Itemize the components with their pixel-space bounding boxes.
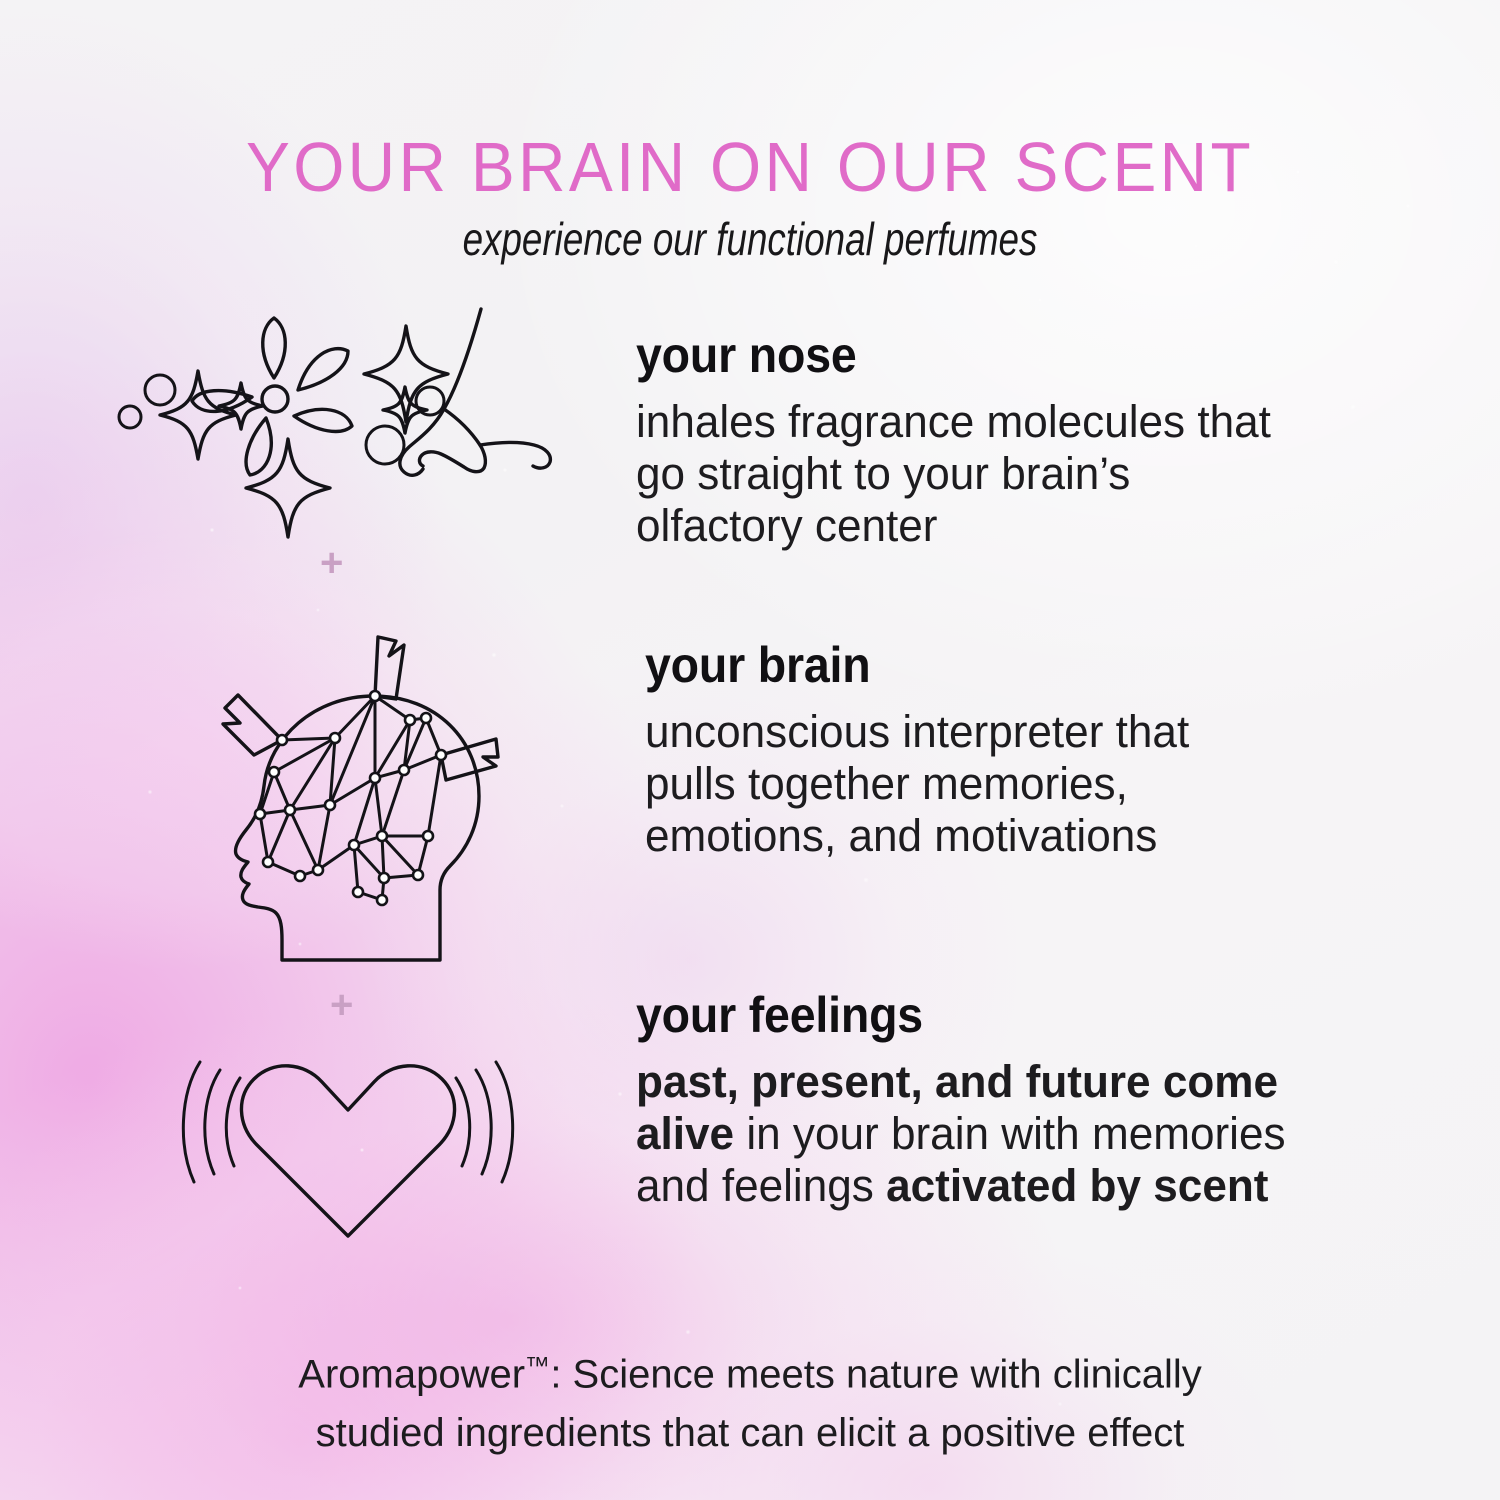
- page-subtitle: experience our functional perfumes: [150, 216, 1350, 262]
- body-line: alive in your brain with memories: [636, 1108, 1286, 1160]
- body-line: and feelings activated by scent: [636, 1160, 1286, 1212]
- infographic-poster: YOUR BRAIN ON OUR SCENT experience our f…: [0, 0, 1500, 1500]
- footer-line-2: studied ingredients that can elicit a po…: [0, 1404, 1500, 1462]
- body-your-nose: inhales fragrance molecules that go stra…: [636, 396, 1271, 552]
- heading-your-nose: your nose: [636, 330, 1239, 380]
- vibrating-heart-icon: [188, 1040, 508, 1250]
- trademark-icon: ™: [525, 1353, 550, 1380]
- body-emphasis: alive: [636, 1108, 734, 1159]
- body-emphasis: past, present, and future come: [636, 1056, 1278, 1107]
- footer-note: Aromapower™: Science meets nature with c…: [0, 1338, 1500, 1462]
- section-text-your-brain: your brain unconscious interpreter that …: [645, 640, 1200, 862]
- body-run: in your brain with memories: [734, 1108, 1285, 1159]
- body-run: and feelings: [636, 1160, 886, 1211]
- head-with-network-brain-icon: [178, 600, 548, 980]
- body-line: go straight to your brain’s: [636, 448, 1271, 500]
- body-line: olfactory center: [636, 500, 1271, 552]
- body-emphasis: activated by scent: [886, 1160, 1268, 1211]
- body-line: past, present, and future come: [636, 1056, 1286, 1108]
- body-line: inhales fragrance molecules that: [636, 396, 1271, 448]
- nose-with-scent-sparkles-icon: [108, 305, 598, 545]
- footer-line-1-rest: : Science meets nature with clinically: [550, 1353, 1201, 1397]
- plus-separator-icon: +: [330, 985, 353, 1025]
- body-line: emotions, and motivations: [645, 810, 1189, 862]
- heading-your-feelings: your feelings: [636, 990, 1252, 1040]
- header: YOUR BRAIN ON OUR SCENT experience our f…: [0, 132, 1500, 262]
- section-text-your-nose: your nose inhales fragrance molecules th…: [636, 330, 1284, 552]
- footer-line-1: Aromapower™: Science meets nature with c…: [0, 1338, 1500, 1404]
- plus-separator-icon: +: [320, 543, 343, 583]
- footer-brand: Aromapower: [298, 1353, 525, 1397]
- body-your-feelings: past, present, and future comealive in y…: [636, 1056, 1286, 1212]
- page-title: YOUR BRAIN ON OUR SCENT: [45, 132, 1455, 202]
- body-line: unconscious interpreter that: [645, 706, 1189, 758]
- body-line: pulls together memories,: [645, 758, 1189, 810]
- body-your-brain: unconscious interpreter that pulls toget…: [645, 706, 1189, 862]
- heading-your-brain: your brain: [645, 640, 1161, 690]
- section-text-your-feelings: your feelings past, present, and future …: [636, 990, 1299, 1212]
